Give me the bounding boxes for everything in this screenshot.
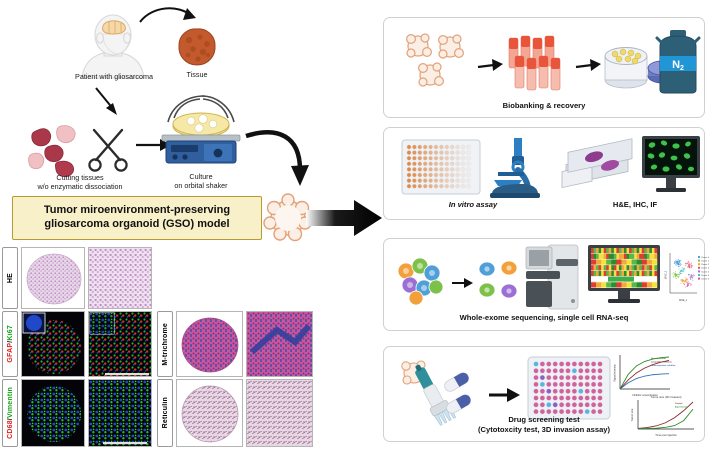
svg-text:Cluster 0: Cluster 0 [701,256,710,259]
scissors-icon [88,126,130,172]
svg-text:Cluster 1: Cluster 1 [701,260,710,263]
screening-microplate-icon [528,357,610,419]
histology-image-cd68-detail [88,379,152,447]
panel-drug-screening: Normal controlCompetitive inhibitorNonco… [383,346,705,442]
sequencer-machine-icon [526,245,582,309]
histology-row-label-gfap-ki67: GFAP/Ki67 [2,311,18,377]
histology-image-trichrome-detail [246,311,313,377]
figure-root: Patient with gliosarcoma Tissue [0,0,712,450]
svg-text:Experimental: Experimental [675,405,688,408]
panel-caption-biobanking: Biobanking & recovery [384,101,704,111]
histology-image-he-detail [88,247,152,309]
panel-sequencing: Cluster 0Cluster 1Cluster 2Cluster 3Clus… [383,238,705,331]
monitor-fluorescence-icon [642,136,700,196]
stain-label-gfap: GFAP [7,343,14,363]
arrow-organoid-to-vials [478,58,504,72]
stain-label-vimentin: Vimentin [7,387,14,418]
histology-label-text: HE [7,273,14,283]
arrow-culture-to-organoid [244,124,316,200]
svg-text:Cluster 2: Cluster 2 [701,263,710,266]
histology-row-label-cd68-vimentin: CD68/Vimentin [2,379,18,447]
stain-label-ki67: Ki67 [7,325,14,341]
microscope-slides-icon [560,148,640,192]
histology-row-label-m-trichrome: M-trichrome [157,311,173,377]
tissue-label: Tissue [170,70,224,79]
panel-caption-sequencing: Whole-exome sequencing, single cell RNA-… [384,313,704,323]
liquid-nitrogen-tank-icon: N2 [656,30,700,94]
patient-label: Patient with gliosarcoma [66,72,162,81]
histology-label-text: Reticulin [162,397,169,428]
svg-text:Competitive inhibitor: Competitive inhibitor [651,360,672,363]
caption-he-ihc-if: H&E, IHC, IF [570,200,700,209]
culture-label: Culture on orbital shaker [158,172,244,190]
panel-assay-histology: In vitro assay [383,127,705,220]
organoid-cluster-icon [400,30,476,92]
panel-biobanking: N2 Biobanking & recovery [383,17,705,118]
svg-text:Control: Control [675,402,683,405]
mixed-cells-icon [394,257,450,305]
svg-text:Cluster 6: Cluster 6 [701,278,710,281]
cutting-label: Cutting tissues w/o enzymatic dissociati… [22,173,138,191]
microscope-icon [488,136,542,198]
tissue-fragments [28,124,90,174]
histology-image-gfap-overview [21,311,85,377]
tsne-scatter-plot: Cluster 0Cluster 1Cluster 2Cluster 3Clus… [664,251,704,303]
histology-image-trichrome-overview [176,311,243,377]
arrow-to-applications [306,198,382,238]
svg-text:Normal control: Normal control [651,357,666,360]
growth-title: Tumor size (3D invasion) [651,395,682,399]
arrow-vials-to-freezer [576,58,602,72]
svg-text:Noncompetitive inhibitor: Noncompetitive inhibitor [651,364,676,367]
arrow-to-screening-plate [489,387,521,403]
cryovial-rack-icon [508,34,572,92]
dose-ylabel: Signal intensity [613,364,617,382]
sequence-heatmap-monitor [588,245,660,307]
single-cells-icon [476,257,522,305]
panel-caption-drug-screening: Drug screening test (Cytotoxcity test, 3… [384,415,704,435]
microplate-icon [402,140,480,194]
model-title-text: Tumor miroenvironment-preserving gliosar… [44,204,230,232]
orbital-shaker-illustration [158,96,244,168]
histology-image-cd68-overview [21,379,85,447]
drug-capsules-icon [442,373,486,421]
patient-illustration [78,16,146,78]
stain-label-cd68: CD68 [7,420,14,439]
arrow-patient-to-cutting [92,86,126,118]
histology-image-reticulin-detail [246,379,313,447]
tissue-illustration [176,27,218,67]
svg-text:Cluster 3: Cluster 3 [701,267,710,270]
tsne-ylabel: tSNE_2 [665,270,668,279]
model-title-banner: Tumor miroenvironment-preserving gliosar… [12,196,262,240]
tsne-xlabel: tSNE_1 [679,299,688,302]
histology-image-he-overview [21,247,85,309]
caption-in-vitro-assay: In vitro assay [408,200,538,209]
histology-image-reticulin-overview [176,379,243,447]
histology-row-label-he: HE [2,247,18,309]
histology-label-text: M-trichrome [162,323,169,366]
histology-image-grid: HE GFAP/Ki67 [2,247,330,448]
arrow-cells-to-single-cells [452,277,474,289]
svg-text:Cluster 4: Cluster 4 [701,270,710,273]
histology-row-label-reticulin: Reticulin [157,379,173,447]
svg-text:Cluster 5: Cluster 5 [701,274,710,277]
histology-image-gfap-detail [88,311,152,377]
